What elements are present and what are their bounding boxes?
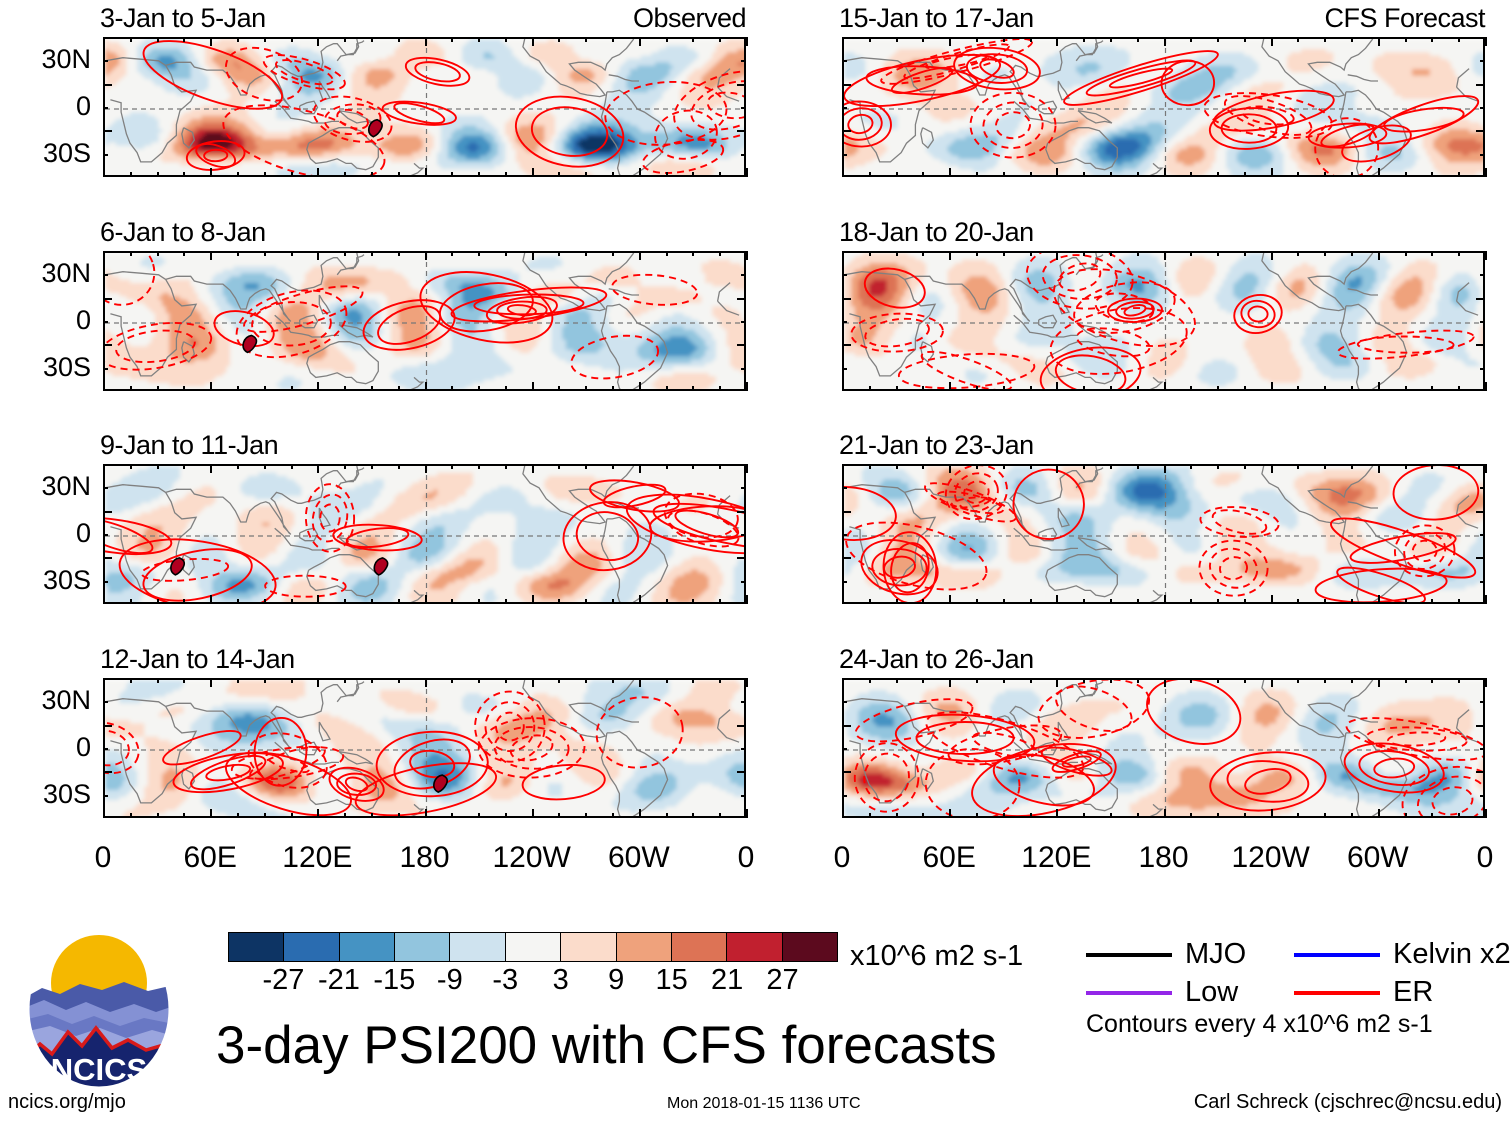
y-tick-label: 30S bbox=[0, 140, 91, 167]
column-header-0: Observed bbox=[103, 5, 746, 32]
legend-label: Low bbox=[1185, 978, 1238, 1007]
y-tick-label: 30S bbox=[0, 354, 91, 381]
x-tick-label: 0 bbox=[43, 843, 163, 873]
map-panel-0 bbox=[103, 37, 746, 177]
map-panel-4 bbox=[842, 37, 1485, 177]
colorbar-units-label: x10^6 m2 s-1 bbox=[850, 942, 1023, 971]
x-tick-label: 180 bbox=[365, 843, 485, 873]
colorbar-tick-label: 27 bbox=[766, 966, 798, 995]
footer-website-link[interactable]: ncics.org/mjo bbox=[8, 1092, 126, 1112]
y-tick-label: 30N bbox=[0, 473, 91, 500]
x-tick-label: 60E bbox=[889, 843, 1009, 873]
colorbar-swatch-8 bbox=[672, 933, 727, 961]
map-panel-1 bbox=[103, 251, 746, 391]
panel-title-7: 24-Jan to 26-Jan bbox=[839, 646, 1034, 673]
legend-item-low[interactable]: Low bbox=[1086, 978, 1238, 1007]
footer-timestamp: Mon 2018-01-15 1136 UTC bbox=[667, 1096, 861, 1112]
x-tick-label: 120E bbox=[257, 843, 377, 873]
y-tick-label: 30N bbox=[0, 687, 91, 714]
y-tick-label: 0 bbox=[0, 520, 91, 547]
colorbar-tick-label: 3 bbox=[553, 966, 569, 995]
colorbar-swatch-2 bbox=[340, 933, 395, 961]
colorbar-swatch-3 bbox=[395, 933, 450, 961]
colorbar-swatch-9 bbox=[727, 933, 782, 961]
colorbar-swatch-1 bbox=[284, 933, 339, 961]
legend-label: MJO bbox=[1185, 940, 1246, 969]
panel-title-5: 18-Jan to 20-Jan bbox=[839, 219, 1034, 246]
x-tick-label: 0 bbox=[782, 843, 902, 873]
legend-item-er[interactable]: ER bbox=[1294, 978, 1433, 1007]
colorbar-swatch-6 bbox=[561, 933, 616, 961]
y-tick-label: 0 bbox=[0, 307, 91, 334]
x-tick-label: 60W bbox=[1318, 843, 1438, 873]
map-panel-3 bbox=[103, 678, 746, 818]
colorbar-tick-label: 21 bbox=[711, 966, 743, 995]
legend-item-mjo[interactable]: MJO bbox=[1086, 940, 1246, 969]
x-tick-label: 120W bbox=[472, 843, 592, 873]
x-tick-label: 0 bbox=[1425, 843, 1510, 873]
x-tick-label: 120W bbox=[1211, 843, 1331, 873]
legend-item-kelvin-x2[interactable]: Kelvin x2 bbox=[1294, 940, 1510, 969]
y-tick-label: 30N bbox=[0, 46, 91, 73]
panel-title-2: 9-Jan to 11-Jan bbox=[100, 432, 278, 459]
colorbar-tick-label: 15 bbox=[655, 966, 687, 995]
map-panel-6 bbox=[842, 464, 1485, 604]
panel-title-3: 12-Jan to 14-Jan bbox=[100, 646, 295, 673]
legend-line-swatch bbox=[1294, 991, 1380, 995]
x-tick-label: 60E bbox=[150, 843, 270, 873]
ncics-logo[interactable]: NCICS bbox=[24, 928, 174, 1090]
colorbar-swatch-10 bbox=[783, 933, 837, 961]
colorbar-swatch-5 bbox=[506, 933, 561, 961]
colorbar-tick-label: -27 bbox=[262, 966, 304, 995]
contour-interval-note: Contours every 4 x10^6 m2 s-1 bbox=[1086, 1012, 1433, 1037]
x-tick-label: 60W bbox=[579, 843, 699, 873]
colorbar-swatch-7 bbox=[617, 933, 672, 961]
map-panel-7 bbox=[842, 678, 1485, 818]
x-tick-label: 120E bbox=[996, 843, 1116, 873]
map-panel-2 bbox=[103, 464, 746, 604]
y-tick-label: 0 bbox=[0, 734, 91, 761]
map-panel-5 bbox=[842, 251, 1485, 391]
colorbar-swatch-0 bbox=[229, 933, 284, 961]
legend-line-swatch bbox=[1294, 953, 1380, 957]
legend-label: ER bbox=[1393, 978, 1433, 1007]
panel-title-1: 6-Jan to 8-Jan bbox=[100, 219, 266, 246]
y-tick-label: 0 bbox=[0, 93, 91, 120]
legend-line-swatch bbox=[1086, 991, 1172, 995]
colorbar-tick-label: -15 bbox=[373, 966, 415, 995]
panel-title-6: 21-Jan to 23-Jan bbox=[839, 432, 1034, 459]
colorbar bbox=[228, 932, 838, 962]
colorbar-tick-label: -21 bbox=[318, 966, 360, 995]
colorbar-swatch-4 bbox=[450, 933, 505, 961]
colorbar-tick-label: -3 bbox=[492, 966, 518, 995]
y-tick-label: 30S bbox=[0, 781, 91, 808]
page-title: 3-day PSI200 with CFS forecasts bbox=[216, 1019, 997, 1072]
colorbar-tick-labels: -27-21-15-9-339152127 bbox=[228, 966, 838, 998]
y-tick-label: 30S bbox=[0, 567, 91, 594]
x-tick-label: 180 bbox=[1104, 843, 1224, 873]
legend-label: Kelvin x2 bbox=[1393, 940, 1510, 969]
legend-line-swatch bbox=[1086, 953, 1172, 957]
footer-author-contact[interactable]: Carl Schreck (cjschrec@ncsu.edu) bbox=[1194, 1092, 1502, 1112]
column-header-1: CFS Forecast bbox=[842, 5, 1485, 32]
colorbar-tick-label: 9 bbox=[608, 966, 624, 995]
y-tick-label: 30N bbox=[0, 260, 91, 287]
ncics-logo-text: NCICS bbox=[51, 1052, 147, 1087]
colorbar-tick-label: -9 bbox=[437, 966, 463, 995]
